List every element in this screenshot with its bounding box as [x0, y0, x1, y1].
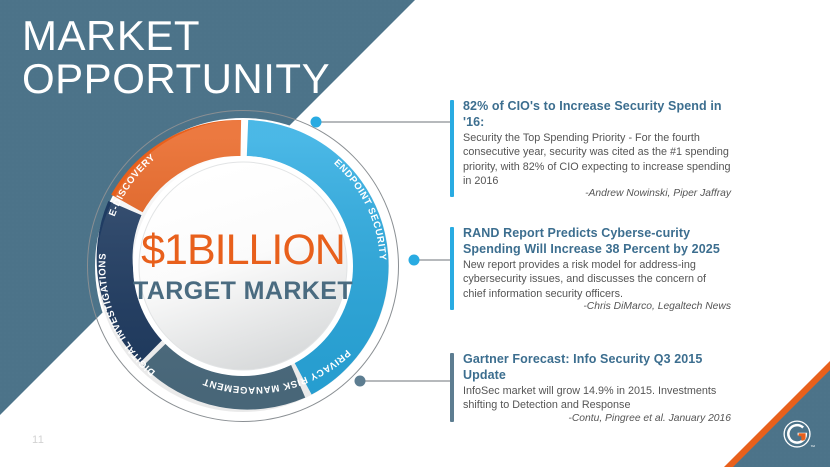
callout-source-1: -Andrew Nowinski, Piper Jaffray [463, 188, 731, 199]
svg-text:™: ™ [810, 444, 815, 450]
callout-heading-3: Gartner Forecast: Info Security Q3 2015 … [463, 351, 731, 383]
callout-source-3: -Contu, Pingree et al. January 2016 [463, 413, 731, 424]
brand-logo-icon: ™ [779, 416, 817, 454]
callout-heading-2: RAND Report Predicts Cyberse-curity Spen… [463, 225, 731, 257]
connector-dot-2 [409, 255, 420, 266]
title-line-1: MARKET [22, 12, 200, 59]
callout-body-1: Security the Top Spending Priority - For… [463, 131, 731, 188]
title-line-2: OPPORTUNITY [22, 55, 330, 102]
callout-block-1: 82% of CIO's to Increase Security Spend … [450, 98, 731, 199]
callout-body-2: New report provides a risk model for add… [463, 258, 731, 301]
donut-chart: ENDPOINT SECURITY PRIVACY RISK MANAGEMEN… [82, 105, 404, 427]
callout-body-3: InfoSec market will grow 14.9% in 2015. … [463, 384, 731, 413]
callout-source-2: -Chris DiMarco, Legaltech News [463, 301, 731, 312]
callout-heading-1: 82% of CIO's to Increase Security Spend … [463, 98, 731, 130]
callout-accent-bar-3 [450, 353, 454, 422]
page-number: 11 [32, 434, 44, 446]
page-title: MARKETOPPORTUNITY [22, 14, 330, 101]
callout-block-3: Gartner Forecast: Info Security Q3 2015 … [450, 351, 731, 424]
callout-block-2: RAND Report Predicts Cyberse-curity Spen… [450, 225, 731, 312]
slide-canvas: MARKETOPPORTUNITY 11 [0, 0, 830, 467]
callout-accent-bar-2 [450, 227, 454, 310]
callout-accent-bar-1 [450, 100, 454, 197]
